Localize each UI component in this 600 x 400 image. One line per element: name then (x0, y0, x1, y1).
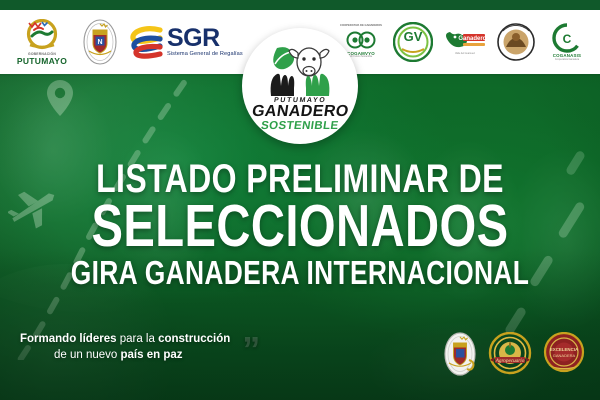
center-logo-line-main: GANADERO (251, 104, 350, 120)
tagline-bold-2: construcción (158, 333, 230, 345)
coganasis-subtitle: Cooperativa Ganadera (555, 59, 579, 61)
svg-text:C: C (563, 32, 572, 46)
comite-de-ganaderos-logo: Ganaderos Valle del Guamuez (442, 29, 488, 55)
cow-and-hands-icon (261, 44, 339, 96)
tagline-plain-1: para la (117, 333, 159, 345)
poster-canvas: GOBERNACIÓN PUTUMAYO N SGR (0, 0, 600, 400)
tagline-plain-2: de un nuevo (54, 349, 121, 361)
ganaderos-subtitle: Valle del Guamuez (455, 53, 475, 55)
coganasis-logo: C COGANASIS Cooperativa Ganadera (544, 23, 590, 61)
cogamvyo-icon (346, 29, 376, 51)
gv-ganaderia-verde-logo: GV (393, 22, 433, 62)
tagline-block: Formando líderes para la construcción de… (20, 331, 230, 364)
gv-wordmark: GV (404, 29, 423, 44)
svg-text:Ganaderos: Ganaderos (458, 36, 487, 42)
coat-of-arms-icon: N (83, 19, 117, 65)
svg-text:EXCELENCIA: EXCELENCIA (550, 347, 579, 352)
putumayo-emblem-icon (22, 19, 62, 53)
sgr-logo: SGR Sistema General de Regalías (130, 24, 243, 60)
maroon-circular-seal: EXCELENCIA GANADERA (542, 332, 586, 376)
cogamvyo-cap-top: COOPERATIVA DE GANADEROS (340, 25, 382, 28)
tagline-bold-3: país en paz (121, 349, 183, 361)
fondo-badge-icon (497, 23, 535, 61)
ganaderos-bull-icon: Ganaderos (443, 29, 487, 53)
fondo-ganadero-badge-logo (497, 23, 535, 61)
top-green-strip (0, 0, 600, 10)
cogamvyo-subtitle: Un Futuro Sostenible (350, 56, 372, 58)
headline-block: LISTADO PRELIMINAR DE SELECCIONADOS GIRA… (0, 160, 600, 289)
quote-glyph: ” (242, 332, 260, 368)
gobernacion-putumayo-word: PUTUMAYO (17, 57, 67, 66)
svg-text:Agropecuario: Agropecuario (495, 358, 525, 364)
svg-text:GANADERA: GANADERA (553, 353, 576, 358)
putumayo-ganadero-sostenible-logo: PUTUMAYO GANADERO SOSTENIBLE (242, 28, 358, 144)
departamental-coat-of-arms-logo: N (80, 19, 120, 65)
gv-circular-icon: GV (393, 22, 433, 62)
bottom-seals: Agropecuario EXCELENCIA GANADERA (444, 332, 586, 376)
tagline-line-2: de un nuevo país en paz ” (20, 347, 230, 364)
coganasis-icon: C (550, 23, 584, 53)
gold-circular-seal: Agropecuario (488, 332, 532, 376)
gobernacion-putumayo-logo: GOBERNACIÓN PUTUMAYO (14, 19, 70, 65)
tagline-line-1: Formando líderes para la construcción (20, 331, 230, 348)
headline-line-3: GIRA GANADERA INTERNACIONAL (60, 256, 540, 289)
svg-text:N: N (97, 39, 102, 46)
tagline-bold-1: Formando líderes (20, 333, 117, 345)
sgr-wordmark: SGR (167, 27, 220, 51)
partner-logos-left: GOBERNACIÓN PUTUMAYO N SGR (14, 14, 243, 70)
sgr-subtitle: Sistema General de Regalías (167, 51, 243, 57)
headline-line-2: SELECCIONADOS (60, 197, 540, 256)
silver-shield-seal (444, 332, 478, 376)
sgr-swoosh-icon (130, 24, 164, 60)
center-logo-line-accent: SOSTENIBLE (260, 120, 339, 132)
partner-logos-right: COOPERATIVA DE GANADEROS COGAMVYO Un Fut… (338, 16, 590, 68)
